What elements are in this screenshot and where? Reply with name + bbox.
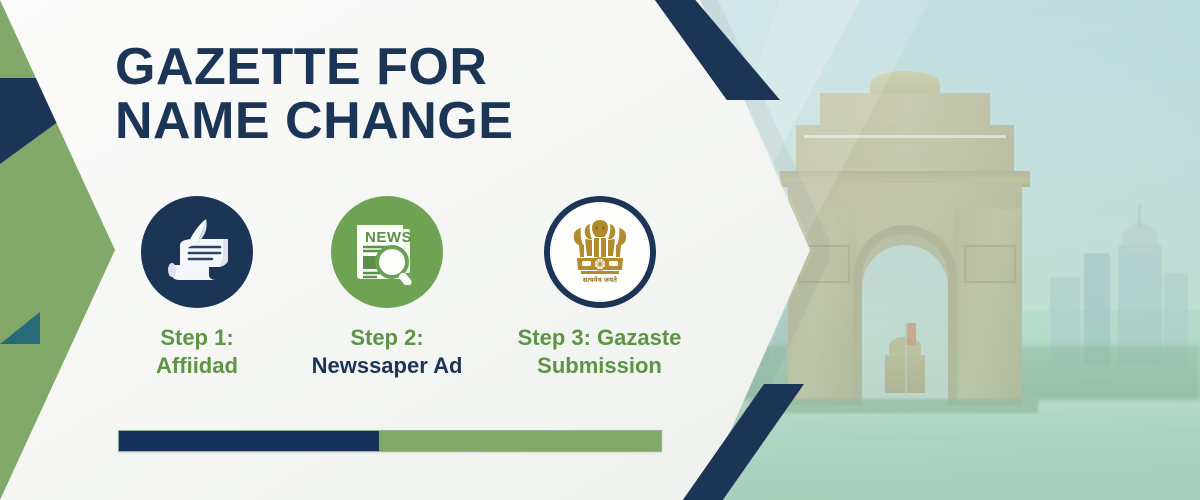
step-item-3[interactable]: सत्यमेव जयते Step 3: Gazaste Submission (492, 196, 707, 380)
ashoka-emblem-icon: सत्यमेव जयते (565, 212, 635, 293)
step-item-2[interactable]: NEWS (297, 196, 477, 380)
step-3-label-line-2: Submission (492, 352, 707, 380)
progress-bar (118, 430, 662, 452)
quill-scroll-icon (160, 215, 234, 290)
step-2-icon-circle: NEWS (331, 196, 443, 308)
step-item-1[interactable]: Step 1: Affiidad (112, 196, 282, 380)
step-1-icon-circle (141, 196, 253, 308)
headline-line-1: GAZETTE FOR (115, 40, 513, 94)
banner-headline: GAZETTE FOR NAME CHANGE (115, 40, 513, 148)
headline-line-2: NAME CHANGE (115, 94, 513, 148)
step-3-label: Step 3: Gazaste Submission (492, 324, 707, 380)
progress-bar-track (379, 431, 661, 451)
newspaper-magnifier-icon: NEWS (349, 215, 425, 290)
gazette-name-change-banner: GAZETTE FOR NAME CHANGE (0, 0, 1200, 500)
step-1-label-line-2: Affiidad (112, 352, 282, 380)
svg-text:सत्यमेव जयते: सत्यमेव जयते (581, 276, 616, 284)
svg-text:NEWS: NEWS (365, 229, 412, 246)
step-2-label-line-1: Step 2: (297, 324, 477, 352)
banner-content: GAZETTE FOR NAME CHANGE (0, 0, 1200, 500)
step-2-label: Step 2: Newssaper Ad (297, 324, 477, 380)
step-3-label-line-1: Step 3: Gazaste (492, 324, 707, 352)
step-1-label-line-1: Step 1: (112, 324, 282, 352)
progress-bar-fill (119, 431, 379, 451)
step-1-label: Step 1: Affiidad (112, 324, 282, 380)
step-2-label-line-2: Newssaper Ad (297, 352, 477, 380)
step-3-icon-circle: सत्यमेव जयते (544, 196, 656, 308)
steps-row: Step 1: Affiidad NEWS (112, 196, 712, 396)
